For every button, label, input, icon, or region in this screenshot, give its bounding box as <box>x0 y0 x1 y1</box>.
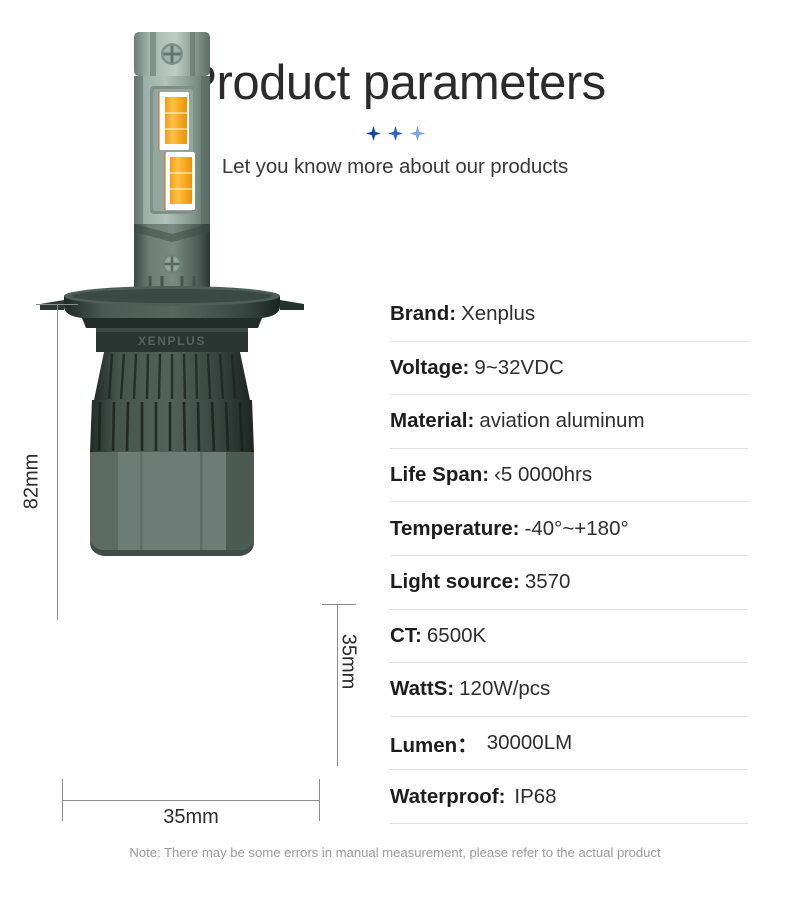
spec-label-ct: CT: <box>390 624 422 648</box>
spec-label-watts: WattS: <box>390 677 454 701</box>
spec-value-waterproof: IP68 <box>514 785 556 809</box>
spec-label-waterproof: Waterproof: <box>390 785 505 809</box>
spec-row-ct: CT: 6500K <box>390 610 748 664</box>
spec-row-lumen: Lumen： 30000LM <box>390 717 748 771</box>
spec-row-watts: WattS: 120W/pcs <box>390 663 748 717</box>
spec-row-light-source: Light source: 3570 <box>390 556 748 610</box>
led-bulb-graphic: XENPLUS <box>0 0 390 620</box>
svg-text:XENPLUS: XENPLUS <box>138 334 206 348</box>
spec-row-waterproof: Waterproof: IP68 <box>390 770 748 824</box>
spec-label-material: Material: <box>390 409 474 433</box>
width-dimension-line <box>62 800 320 801</box>
measurement-note: Note: There may be some errors in manual… <box>0 845 790 860</box>
specifications-table: Brand: Xenplus Voltage: 9~32VDC Material… <box>390 288 748 824</box>
spec-value-lumen: 30000LM <box>487 731 572 755</box>
product-parameters-page: Product parameters Let you know more abo… <box>0 0 790 898</box>
spec-value-life-span: ‹5 0000hrs <box>494 463 592 487</box>
spec-label-light-source: Light source: <box>390 570 520 594</box>
spec-label-temperature: Temperature: <box>390 517 520 541</box>
spec-row-brand: Brand: Xenplus <box>390 288 748 342</box>
spec-value-watts: 120W/pcs <box>459 677 550 701</box>
spec-value-temperature: -40°~+180° <box>525 517 629 541</box>
spec-row-material: Material: aviation aluminum <box>390 395 748 449</box>
height-dimension-line <box>57 305 58 620</box>
spec-value-brand: Xenplus <box>461 302 535 326</box>
depth-dimension-label: 35mm <box>337 627 360 697</box>
spec-value-material: aviation aluminum <box>479 409 644 433</box>
spec-value-light-source: 3570 <box>525 570 571 594</box>
spec-value-voltage: 9~32VDC <box>474 356 563 380</box>
diamond-light-icon <box>410 126 425 141</box>
spec-label-brand: Brand: <box>390 302 456 326</box>
spec-row-temperature: Temperature: -40°~+180° <box>390 502 748 556</box>
width-dimension-label: 35mm <box>62 806 320 829</box>
height-dimension-label: 82mm <box>21 447 44 517</box>
spec-value-ct: 6500K <box>427 624 486 648</box>
spec-label-life-span: Life Span: <box>390 463 489 487</box>
spec-label-lumen: Lumen： <box>390 728 478 758</box>
spec-row-life-span: Life Span: ‹5 0000hrs <box>390 449 748 503</box>
depth-dimension-tick <box>322 604 356 605</box>
spec-row-voltage: Voltage: 9~32VDC <box>390 342 748 396</box>
spec-label-voltage: Voltage: <box>390 356 469 380</box>
